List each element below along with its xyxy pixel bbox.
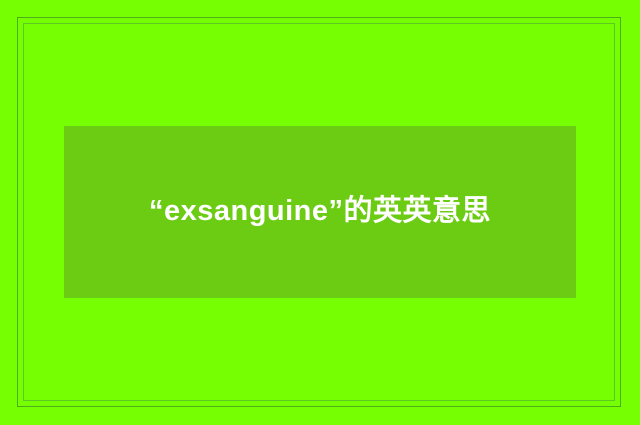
banner-title-text: “exsanguine”的英英意思	[149, 185, 491, 239]
poster-canvas: “exsanguine”的英英意思	[0, 0, 640, 425]
title-banner: “exsanguine”的英英意思	[64, 126, 576, 298]
